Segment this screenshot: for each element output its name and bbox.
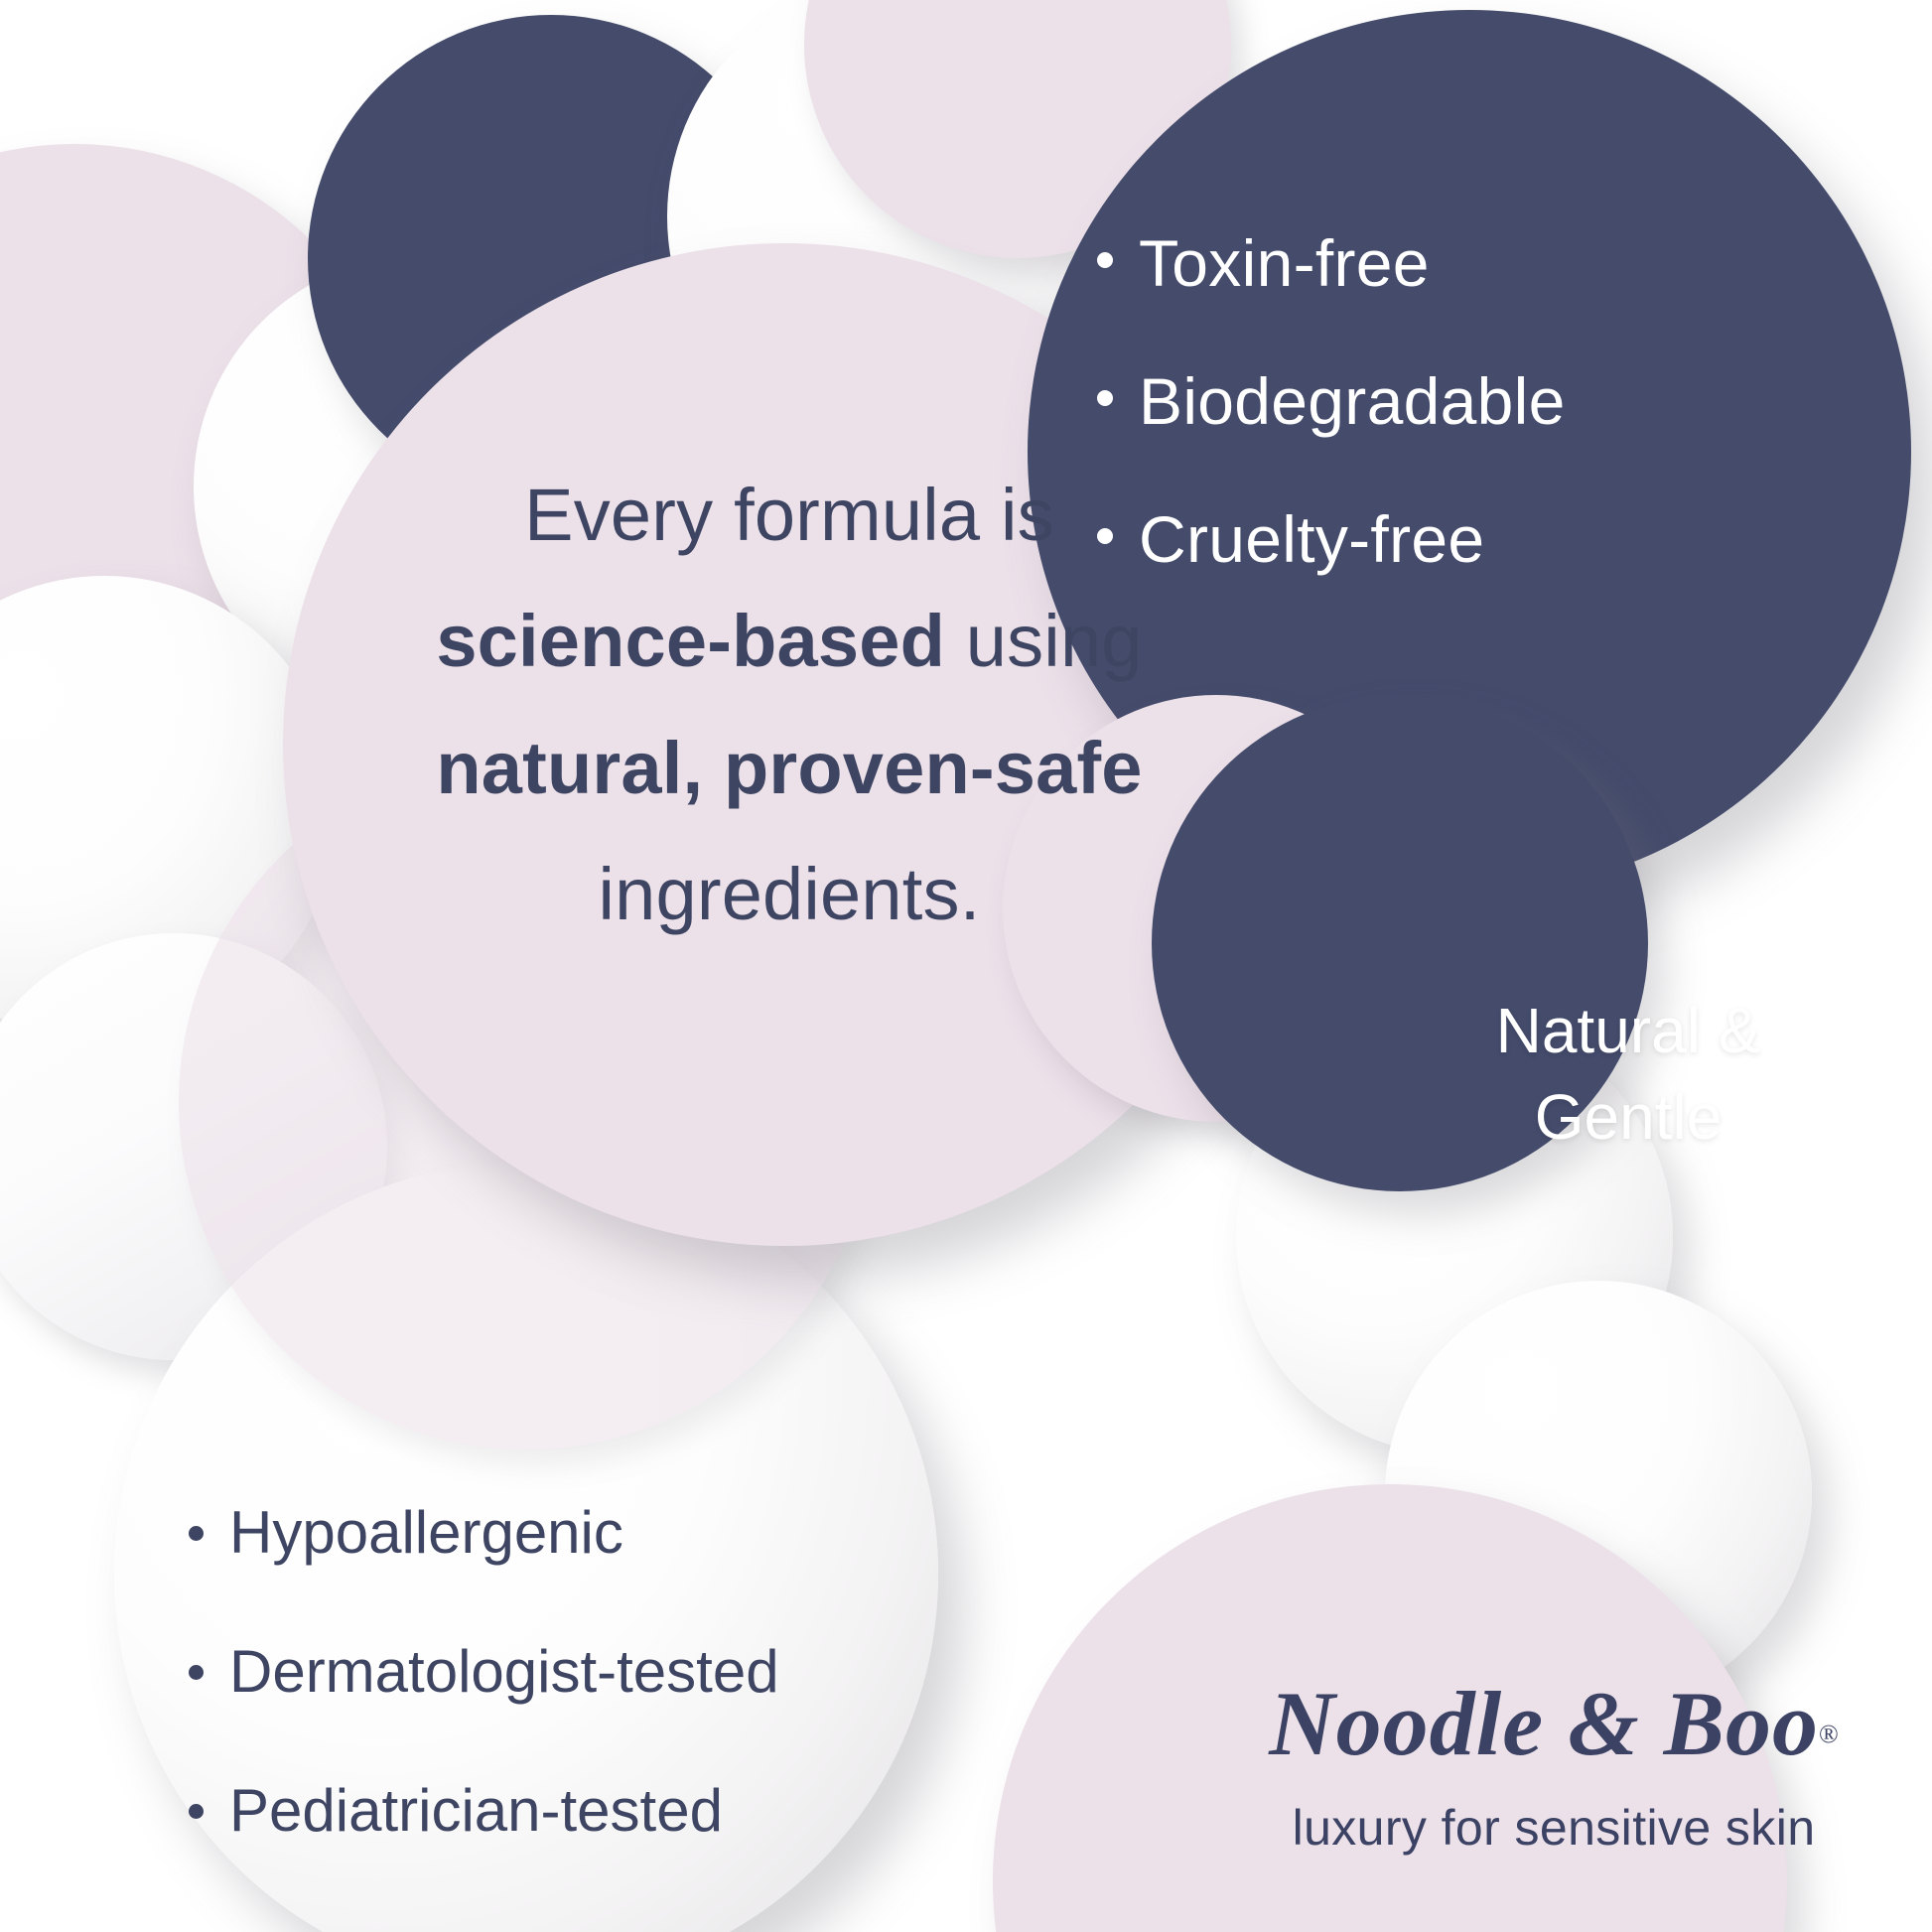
statement-emphasis-natural-proven-safe: natural, proven-safe <box>436 727 1142 809</box>
claims-list: Hypoallergenic Dermatologist-tested Pedi… <box>189 1494 1013 1911</box>
brand-wordmark-text: Noodle & Boo <box>1269 1673 1819 1774</box>
benefits-list-item: Cruelty-free <box>1097 494 1792 585</box>
benefits-list-item: Toxin-free <box>1097 218 1792 309</box>
benefits-list-item: Biodegradable <box>1097 356 1792 447</box>
claims-item-label: Pediatrician-tested <box>229 1772 723 1850</box>
infographic-canvas: Every formula is science-based using nat… <box>0 0 1932 1932</box>
statement-line-4: ingredients. <box>328 831 1251 957</box>
natural-gentle-line-2: Gentle <box>1420 1074 1837 1161</box>
bullet-dot-icon <box>1097 252 1113 268</box>
claims-list-item: Hypoallergenic <box>189 1494 1013 1572</box>
natural-gentle-text: Natural & Gentle <box>1420 988 1837 1161</box>
statement-line-3: natural, proven-safe <box>328 705 1251 831</box>
bullet-dot-icon <box>1097 528 1113 544</box>
statement-emphasis-science-based: science-based <box>436 600 945 682</box>
bullet-dot-icon <box>189 1804 204 1819</box>
claims-list-item: Pediatrician-tested <box>189 1772 1013 1850</box>
brand-wordmark: Noodle & Boo® <box>1236 1678 1871 1769</box>
registered-trademark-icon: ® <box>1819 1720 1839 1748</box>
benefits-item-label: Toxin-free <box>1139 218 1430 309</box>
benefits-list: Toxin-free Biodegradable Cruelty-free <box>1097 218 1792 632</box>
benefits-item-label: Biodegradable <box>1139 356 1566 447</box>
claims-item-label: Hypoallergenic <box>229 1494 623 1572</box>
claims-list-item: Dermatologist-tested <box>189 1633 1013 1711</box>
bullet-dot-icon <box>1097 390 1113 406</box>
brand-logo: Noodle & Boo® luxury for sensitive skin <box>1236 1678 1871 1857</box>
benefits-item-label: Cruelty-free <box>1139 494 1484 585</box>
bullet-dot-icon <box>189 1665 204 1680</box>
brand-tagline: luxury for sensitive skin <box>1236 1799 1871 1857</box>
bullet-dot-icon <box>189 1526 204 1541</box>
natural-gentle-line-1: Natural & <box>1420 988 1837 1074</box>
claims-item-label: Dermatologist-tested <box>229 1633 779 1711</box>
